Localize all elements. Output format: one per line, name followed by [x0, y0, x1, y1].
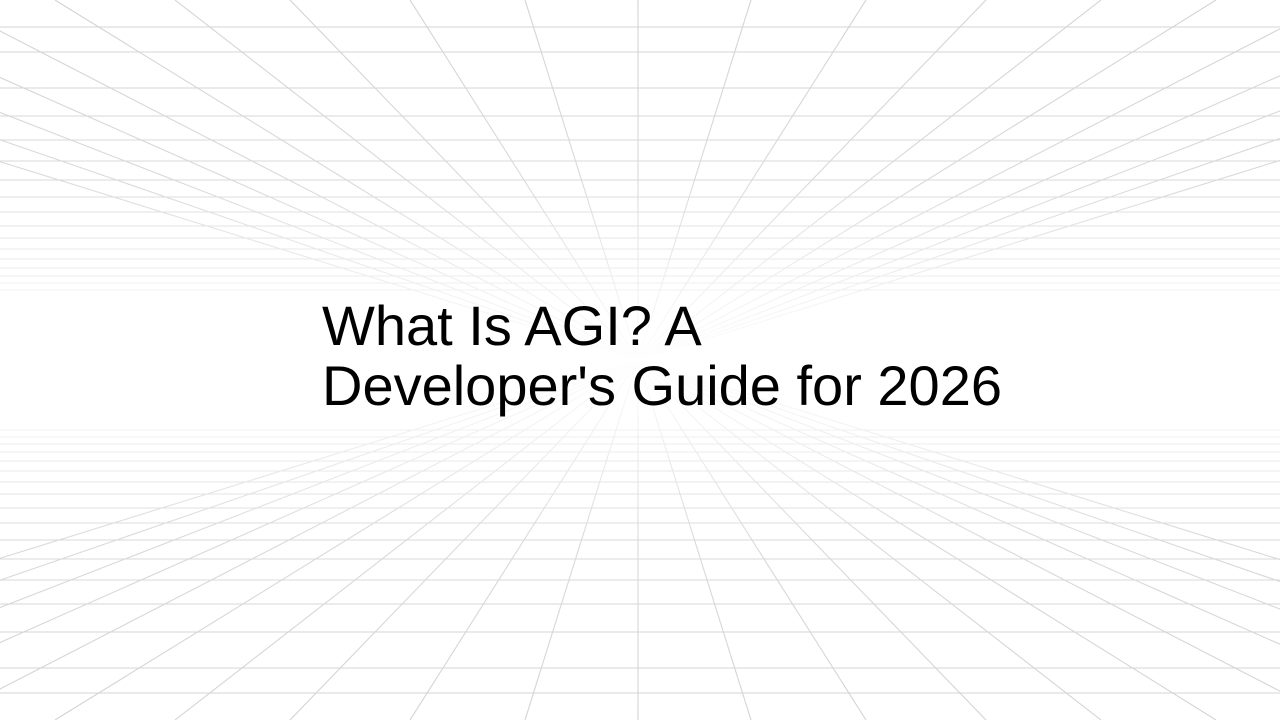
slide-canvas: What Is AGI? A Developer's Guide for 202… [0, 0, 1280, 720]
page-title: What Is AGI? A Developer's Guide for 202… [322, 296, 1002, 416]
title-block: What Is AGI? A Developer's Guide for 202… [322, 296, 1002, 416]
grid-horizontal-lines-top [0, 27, 1280, 290]
grid-horizontal-lines-bottom [0, 430, 1280, 693]
